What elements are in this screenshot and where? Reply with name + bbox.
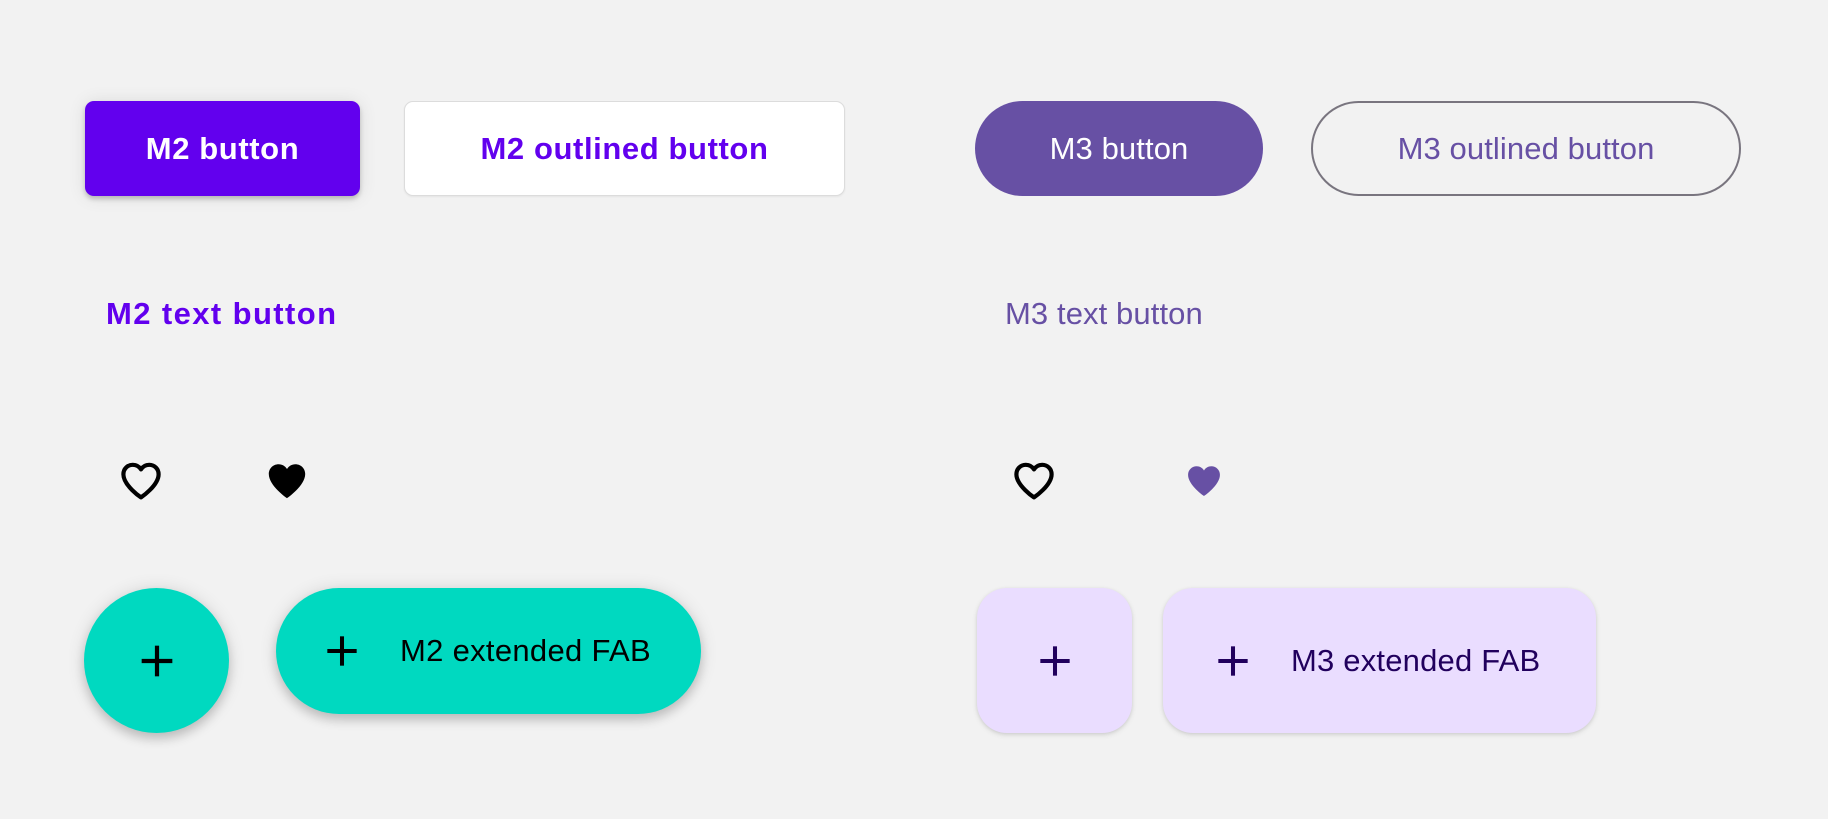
m2-extended-fab-label: M2 extended FAB [400, 633, 651, 669]
m3-filled-button-label: M3 button [1050, 131, 1189, 167]
m2-extended-floating-action-button[interactable]: M2 extended FAB [276, 588, 701, 714]
m3-favorite-outline-icon-button[interactable] [1005, 452, 1063, 510]
m3-text-button[interactable]: M3 text button [1005, 296, 1203, 332]
plus-icon [1033, 639, 1077, 683]
plus-icon [320, 629, 364, 673]
m3-floating-action-button[interactable] [977, 588, 1132, 733]
heart-filled-icon [1181, 460, 1227, 502]
m3-outlined-button-label: M3 outlined button [1398, 131, 1655, 167]
m2-outlined-button-label: M2 outlined button [480, 131, 768, 167]
heart-filled-icon [261, 457, 313, 505]
component-comparison-canvas: M2 button M2 outlined button M3 button M… [0, 0, 1828, 819]
m3-favorite-filled-icon-button[interactable] [1175, 452, 1233, 510]
m3-extended-fab-label: M3 extended FAB [1291, 643, 1540, 679]
m3-filled-button[interactable]: M3 button [975, 101, 1263, 196]
m2-filled-button[interactable]: M2 button [85, 101, 360, 196]
m2-filled-button-label: M2 button [146, 131, 299, 167]
m2-outlined-button[interactable]: M2 outlined button [404, 101, 845, 196]
m2-favorite-filled-icon-button[interactable] [258, 452, 316, 510]
plus-icon [1211, 639, 1255, 683]
m2-floating-action-button[interactable] [84, 588, 229, 733]
m3-text-button-label: M3 text button [1005, 296, 1203, 332]
m2-text-button[interactable]: M2 text button [106, 296, 337, 332]
m2-text-button-label: M2 text button [106, 296, 337, 332]
m3-extended-floating-action-button[interactable]: M3 extended FAB [1163, 588, 1596, 733]
m3-outlined-button[interactable]: M3 outlined button [1311, 101, 1741, 196]
heart-outline-icon [1008, 457, 1060, 505]
m2-favorite-outline-icon-button[interactable] [112, 452, 170, 510]
plus-icon [134, 638, 180, 684]
heart-outline-icon [115, 457, 167, 505]
